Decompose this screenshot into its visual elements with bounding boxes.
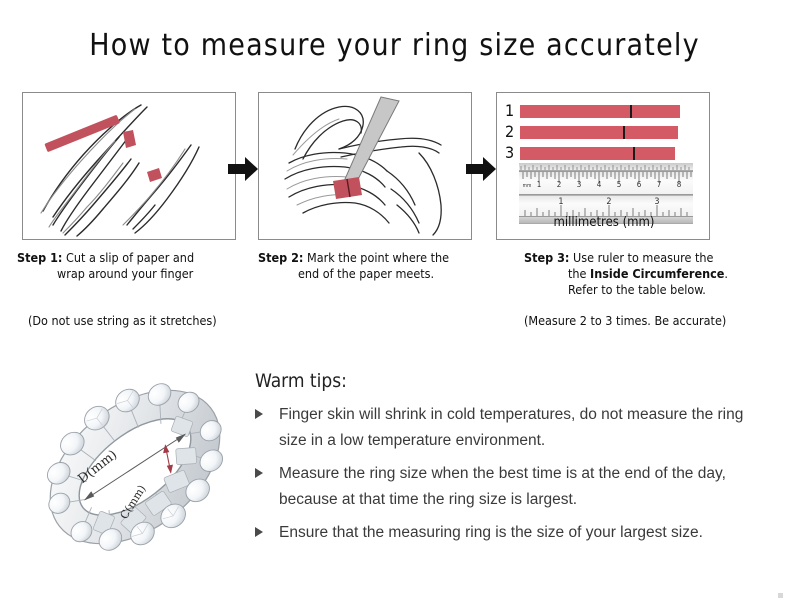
ruler-cm-label-5: 5 bbox=[617, 180, 622, 189]
ruler-inch-label-1: 1 bbox=[558, 197, 563, 207]
ruler-unit-mm: mm bbox=[523, 183, 532, 189]
ruler-cm-label-6: 6 bbox=[637, 180, 642, 189]
hand-pen-marking-illustration bbox=[259, 93, 471, 239]
step-3-line3: Refer to the table below. bbox=[524, 282, 774, 298]
step-3-note: (Measure 2 to 3 times. Be accurate) bbox=[524, 313, 726, 328]
strip-mark-1 bbox=[630, 105, 632, 118]
paper-slip-loose bbox=[44, 115, 120, 153]
step-1-panel bbox=[22, 92, 236, 240]
ruler-imperial-scale: 1 2 3 bbox=[519, 195, 693, 217]
warm-tips-list: Finger skin will shrink in cold temperat… bbox=[255, 402, 755, 553]
step-3-line2: the Inside Circumference. bbox=[524, 266, 774, 282]
ruler-cm-label-8: 8 bbox=[677, 180, 682, 189]
step-3-line1: Use ruler to measure the bbox=[573, 250, 713, 265]
step-2-line1: Mark the point where the bbox=[307, 250, 449, 265]
step-3-line2-post: . bbox=[724, 266, 728, 281]
inside-circumference-emphasis: Inside Circumference bbox=[590, 266, 724, 281]
strip-mark-3 bbox=[633, 147, 635, 160]
strip-number-1: 1 bbox=[505, 101, 514, 120]
step-3-panel: 1 2 3 bbox=[496, 92, 710, 240]
warm-tip-item: Ensure that the measuring ring is the si… bbox=[255, 520, 755, 546]
step-3-label: Step 3: bbox=[524, 250, 569, 265]
arrow-step1-to-step2 bbox=[228, 155, 258, 183]
warm-tip-text: Finger skin will shrink in cold temperat… bbox=[279, 406, 743, 449]
ruler-inch-label-3: 3 bbox=[654, 197, 659, 207]
step-2-line2: end of the paper meets. bbox=[258, 266, 496, 282]
paper-strip-2 bbox=[520, 126, 678, 139]
arrow-step2-to-step3 bbox=[466, 155, 496, 183]
step-2-panel bbox=[258, 92, 472, 240]
triangle-bullet-icon bbox=[255, 527, 263, 537]
strip-number-2: 2 bbox=[505, 122, 514, 141]
step-1-line1: Cut a slip of paper and bbox=[66, 250, 194, 265]
step-1-note: (Do not use string as it stretches) bbox=[28, 313, 217, 328]
strip-mark-2 bbox=[623, 126, 625, 139]
paper-band-marked bbox=[333, 177, 362, 199]
corner-artifact bbox=[778, 593, 783, 598]
ruler-cm-label-2: 2 bbox=[557, 180, 562, 189]
step-3-line2-pre: the bbox=[568, 266, 590, 281]
warm-tip-text: Measure the ring size when the best time… bbox=[279, 465, 726, 508]
warm-tip-item: Finger skin will shrink in cold temperat… bbox=[255, 402, 755, 454]
paper-slip-wrapped bbox=[123, 130, 162, 182]
warm-tip-item: Measure the ring size when the best time… bbox=[255, 461, 755, 513]
strip-number-3: 3 bbox=[505, 143, 514, 162]
step-2-caption: Step 2: Mark the point where the end of … bbox=[258, 250, 496, 282]
ruler-top-edge bbox=[519, 163, 693, 171]
step-1-caption: Step 1: Cut a slip of paper and wrap aro… bbox=[17, 250, 257, 282]
triangle-bullet-icon bbox=[255, 468, 263, 478]
paper-strip-3 bbox=[520, 147, 675, 160]
step-1-line2: wrap around your finger bbox=[17, 266, 257, 282]
step-3-caption: Step 3: Use ruler to measure the the Ins… bbox=[524, 250, 774, 298]
ruler-inch-label-2: 2 bbox=[606, 197, 611, 207]
ruler-cm-label-7: 7 bbox=[657, 180, 662, 189]
paper-strip-1 bbox=[520, 105, 680, 118]
page-title: How to measure your ring size accurately bbox=[0, 28, 789, 63]
step-2-label: Step 2: bbox=[258, 250, 303, 265]
ring-diagram: D(mm) C(mm) bbox=[20, 352, 250, 582]
triangle-bullet-icon bbox=[255, 409, 263, 419]
warm-tip-text: Ensure that the measuring ring is the si… bbox=[279, 524, 703, 541]
infographic-root: How to measure your ring size accurately bbox=[0, 0, 789, 606]
hand-paper-illustration bbox=[23, 93, 235, 239]
ruler-cm-label-3: 3 bbox=[577, 180, 582, 189]
ruler-cm-label-1: 1 bbox=[537, 180, 542, 189]
ruler-metric-scale: mm 1 2 3 4 5 6 7 8 bbox=[519, 171, 693, 195]
ruler-caption: millimetres (mm) bbox=[497, 215, 710, 230]
warm-tips-heading: Warm tips: bbox=[255, 370, 347, 392]
step-1-label: Step 1: bbox=[17, 250, 62, 265]
ruler-cm-label-4: 4 bbox=[597, 180, 602, 189]
